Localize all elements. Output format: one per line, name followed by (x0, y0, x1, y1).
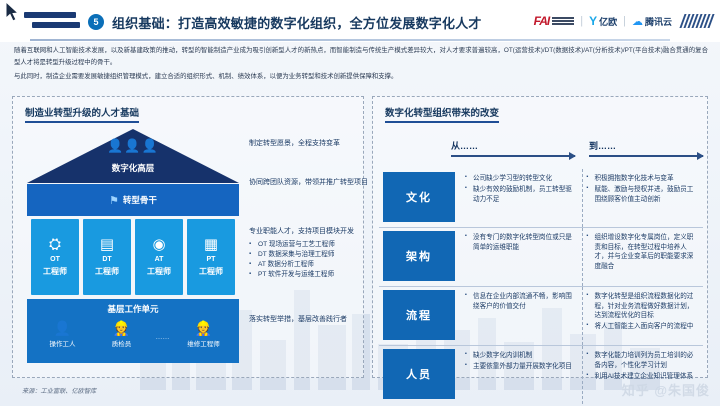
pyramid-band-label: 转型骨干 (123, 194, 157, 206)
right-panel-title: 数字化转型组织带来的改变 (385, 105, 499, 123)
intro-line-1: 随着互联网和人工智能技术发展，以及新基建政策的推动，转型的智能制造产业成为吸引创… (14, 45, 708, 69)
list-item: 数字化转型是组织流程数据化的过程，针对业务流程做好数据计划，达到流程优化的目标 (587, 292, 700, 321)
pyramid-tier-engineers: ⛭ OT 工程师 ▤ DT 工程师 ◉ AT 工程师 ▦ PT 工程师 (27, 219, 239, 295)
note-engineers-title: 专业职能人才，支持项目模块开发 (249, 227, 373, 238)
engineer-ot-code: OT (50, 256, 60, 263)
tencent-cloud-text: 腾讯云 (645, 15, 672, 28)
engineer-pt-label: 工程师 (199, 266, 223, 277)
row-from-people: 缺少数字化内训机制 主要依靠外部力量开展数字化项目 (461, 346, 583, 404)
engineer-at-label: 工程师 (147, 266, 171, 277)
engineer-at-code: AT (155, 256, 164, 263)
arrow-from-line (451, 155, 575, 157)
fai-logo: FAI (534, 14, 575, 28)
engineer-dt-label: 工程师 (95, 266, 119, 277)
row-category-people: 人员 (383, 349, 455, 399)
list-item: DT 数据采集与治理工程师 (249, 250, 373, 260)
eo-logo-mark: Y (589, 14, 597, 28)
list-item: 信息在企业内部流通不畅，影响围绕客户的价值交付 (465, 292, 578, 311)
list-item: 将人工智能主入面向客户的流程中 (587, 322, 700, 332)
row-category-structure: 架构 (383, 231, 455, 281)
list-item: 公司缺少学习型的转型文化 (465, 174, 578, 184)
base-item-repair: 👷 维修工程师 (179, 320, 229, 348)
base-unit-title: 基层工作单元 (27, 303, 239, 315)
note-engineers: 专业职能人才，支持项目模块开发 OT 现场运营与工艺工程师 DT 数据采集与治理… (249, 227, 373, 280)
list-item: 组织增设数字化专属岗位，定义职责和目标，在转型过程中培养人才，并与企业变革后的职… (587, 233, 700, 271)
engineer-dt-code: DT (102, 256, 111, 263)
engineer-column-at: ◉ AT 工程师 (135, 219, 183, 295)
row-to-culture: 积极拥抱数字化技术与变革 赋能、激励与授权并进，鼓励员工围绕顾客价值主动创新 (583, 169, 704, 227)
eo-logo-text: 亿欧 (599, 15, 617, 28)
hatch-decoration-icon (679, 14, 714, 28)
cloud-icon: ☁ (632, 15, 643, 28)
worker-icon: 👤 (38, 320, 88, 336)
eo-logo: Y 亿欧 (589, 14, 617, 28)
base-item-inspector: 👷 质检员 (97, 320, 147, 348)
engineer-pt-code: PT (207, 256, 216, 263)
repair-worker-icon: 👷 (179, 320, 229, 336)
fai-logo-lines (552, 17, 574, 25)
note-executives: 制定转型愿景，全程支持变革 (249, 139, 373, 150)
base-item-operator-label: 操作工人 (38, 338, 88, 348)
list-item: 缺少数字化内训机制 (465, 351, 578, 361)
engineer-column-dt: ▤ DT 工程师 (83, 219, 131, 295)
partner-logos: FAI | Y 亿欧 | ☁ 腾讯云 (534, 11, 712, 31)
row-from-culture: 公司缺少学习型的转型文化 缺少有效的鼓励机制，员工转型驱动力不足 (461, 169, 583, 227)
section-number-badge: 5 (88, 14, 104, 30)
intro-paragraph: 随着互联网和人工智能技术发展，以及新基建政策的推动，转型的智能制造产业成为吸引创… (14, 45, 708, 85)
slide-canvas: 5 组织基础：打造高效敏捷的数字化组织，全方位发展数字化人才 FAI | Y 亿… (0, 0, 720, 406)
page-title: 组织基础：打造高效敏捷的数字化组织，全方位发展数字化人才 (112, 13, 482, 32)
flag-icon: ⚑ (109, 194, 119, 207)
intro-line-2: 与此同时，制造企业需要发展敏捷组织管理模式，建立合适的组织形式、机制、绩效体系，… (14, 71, 708, 83)
table-row: 架构 没有专门的数字化转型岗位或只是简单的运维职能 组织增设数字化专属岗位，定义… (379, 228, 703, 287)
row-to-structure: 组织增设数字化专属岗位，定义职责和目标，在转型过程中培养人才，并与企业变革后的职… (583, 228, 704, 286)
base-item-inspector-label: 质检员 (97, 338, 147, 348)
watermark: 知乎 @朱国俊 (622, 380, 710, 399)
left-panel: 制造业转型升级的人才基础 👤👤👤 数字化高层 ⚑ 转型骨干 ⛭ OT 工程师 (12, 96, 364, 378)
list-item: OT 现场运营与工艺工程师 (249, 240, 373, 250)
arrow-to: 到…… (589, 139, 703, 157)
factory-icon: ⛭ (49, 237, 61, 253)
list-item: 积极拥抱数字化技术与变革 (587, 174, 700, 184)
slide-header: 5 组织基础：打造高效敏捷的数字化组织，全方位发展数字化人才 FAI | Y 亿… (0, 0, 720, 42)
base-item-operator: 👤 操作工人 (38, 320, 88, 348)
logo-separator-2: | (623, 15, 626, 27)
note-engineers-list: OT 现场运营与工艺工程师 DT 数据采集与治理工程师 AT 数据分析工程师 P… (249, 240, 373, 280)
grid-icon: ▦ (204, 237, 218, 253)
list-item: 数字化能力培训列为员工培训的必备内容，个性化学习计划 (587, 351, 700, 370)
list-item: AT 数据分析工程师 (249, 260, 373, 270)
engineer-column-ot: ⛭ OT 工程师 (31, 219, 79, 295)
list-item: 没有专门的数字化转型岗位或只是简单的运维职能 (465, 233, 578, 252)
list-item: 赋能、激励与授权并进，鼓励员工围绕顾客价值主动创新 (587, 185, 700, 204)
row-category-process: 流程 (383, 290, 455, 340)
arrow-from-label: 从…… (451, 139, 575, 152)
change-comparison-table: 文化 公司缺少学习型的转型文化 缺少有效的鼓励机制，员工转型驱动力不足 积极拥抱… (379, 169, 703, 404)
pyramid-tier-executives: 👤👤👤 数字化高层 (27, 129, 239, 183)
arrow-to-label: 到…… (589, 139, 703, 152)
arrow-from: 从…… (451, 139, 575, 157)
ai-chip-icon: ◉ (152, 237, 165, 253)
list-item: 缺少有效的鼓励机制，员工转型驱动力不足 (465, 185, 578, 204)
list-item: PT 软件开发与运维工程师 (249, 270, 373, 280)
engineer-column-pt: ▦ PT 工程师 (187, 219, 235, 295)
tencent-cloud-logo: ☁ 腾讯云 (632, 15, 672, 28)
engineer-ot-label: 工程师 (43, 266, 67, 277)
inspector-icon: 👷 (97, 320, 147, 336)
list-item: 主要依靠外部力量开展数字化项目 (465, 362, 578, 372)
pyramid-tier-backbone: ⚑ 转型骨干 (27, 184, 239, 216)
note-base-unit: 落实转型举措，基层改善践行者 (249, 315, 373, 326)
from-to-arrows: 从…… 到…… (373, 139, 707, 167)
note-backbone: 协同跨团队资源，带领并推广转型项目 (249, 178, 373, 189)
source-note: 来源：工业富联、亿欧智库 (22, 386, 96, 395)
table-row: 文化 公司缺少学习型的转型文化 缺少有效的鼓励机制，员工转型驱动力不足 积极拥抱… (379, 169, 703, 228)
talent-pyramid: 👤👤👤 数字化高层 ⚑ 转型骨干 ⛭ OT 工程师 ▤ DT 工程师 (27, 129, 239, 363)
row-from-structure: 没有专门的数字化转型岗位或只是简单的运维职能 (461, 228, 583, 286)
logo-separator-1: | (580, 15, 583, 27)
table-row: 流程 信息在企业内部流通不畅，影响围绕客户的价值交付 数字化转型是组织流程数据化… (379, 287, 703, 346)
header-decoration (14, 12, 80, 32)
fai-logo-mark: FAI (534, 14, 550, 28)
pyramid-top-label: 数字化高层 (27, 162, 239, 174)
base-item-repair-label: 维修工程师 (179, 338, 229, 348)
pyramid-tier-base: 基层工作单元 👤 操作工人 👷 质检员 …… 👷 维修工程师 (27, 299, 239, 363)
header-divider (30, 39, 670, 41)
people-group-icon: 👤👤👤 (27, 139, 239, 153)
ellipsis-icon: …… (156, 320, 170, 341)
database-icon: ▤ (100, 237, 114, 253)
right-panel: 数字化转型组织带来的改变 从…… 到…… 文化 公司缺少学习型的转型文化 缺少有… (372, 96, 708, 378)
left-panel-title: 制造业转型升级的人才基础 (25, 105, 139, 123)
arrow-to-line (589, 155, 703, 157)
row-from-process: 信息在企业内部流通不畅，影响围绕客户的价值交付 (461, 287, 583, 345)
row-category-culture: 文化 (383, 172, 455, 222)
row-to-process: 数字化转型是组织流程数据化的过程，针对业务流程做好数据计划，达到流程优化的目标 … (583, 287, 704, 345)
